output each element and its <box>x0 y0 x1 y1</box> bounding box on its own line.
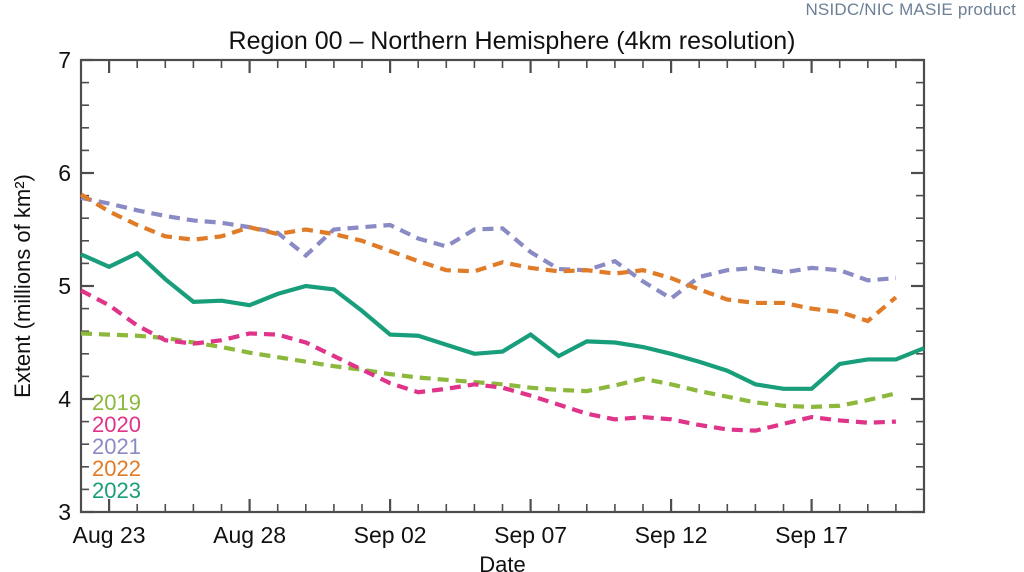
x-tick-label: Sep 02 <box>354 522 427 548</box>
series-line-2023 <box>81 253 924 389</box>
chart-legend: 20192020202120222023 <box>92 390 141 503</box>
x-tick-label: Sep 07 <box>494 522 567 548</box>
series-line-2021 <box>81 198 896 299</box>
x-tick-label: Sep 17 <box>775 522 848 548</box>
x-tick-label: Sep 12 <box>635 522 708 548</box>
x-axis-title: Date <box>479 552 525 572</box>
y-tick-label: 5 <box>58 273 71 299</box>
y-axis-title: Extent (millions of km²) <box>10 174 35 398</box>
x-tick-label: Aug 23 <box>73 522 146 548</box>
sea-ice-extent-line-chart: 34567Aug 23Aug 28Sep 02Sep 07Sep 12Sep 1… <box>0 0 1024 572</box>
y-tick-label: 6 <box>58 160 71 186</box>
plot-frame <box>81 60 924 512</box>
y-tick-label: 3 <box>58 499 71 525</box>
series-layer <box>81 194 924 430</box>
y-tick-label: 7 <box>58 47 71 73</box>
chart-page: NSIDC/NIC MASIE product Region 00 – Nort… <box>0 0 1024 572</box>
y-tick-label: 4 <box>58 386 71 412</box>
x-tick-label: Aug 28 <box>213 522 286 548</box>
series-line-2020 <box>81 291 896 431</box>
legend-item-2023: 2023 <box>92 478 141 503</box>
